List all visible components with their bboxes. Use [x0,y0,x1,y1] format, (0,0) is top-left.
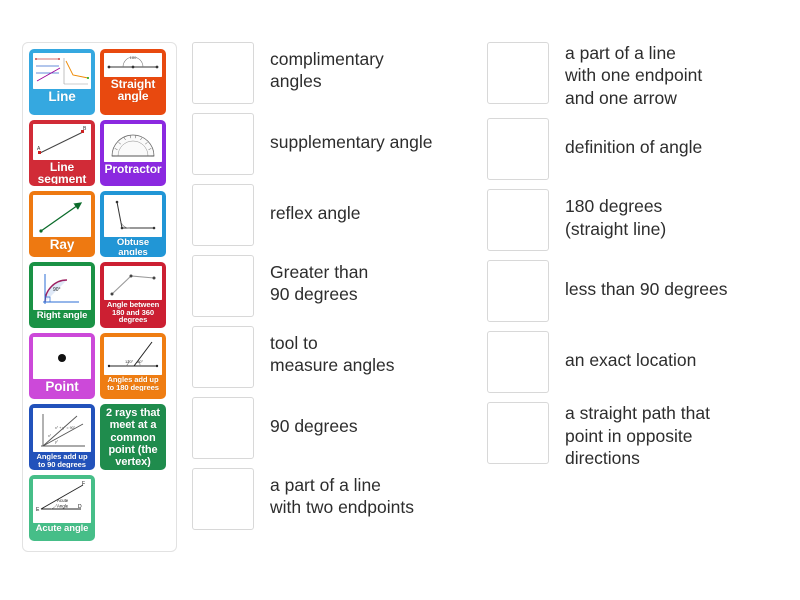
protractor-icon [104,124,162,162]
answer-row: a straight path that point in opposite d… [487,402,787,469]
answer-text: supplementary angle [270,113,432,153]
tile-label: Obtuse angles [103,238,163,255]
answer-text: less than 90 degrees [565,260,727,300]
tile-ray[interactable]: Ray [29,191,95,257]
svg-text:x° + y° = 90°: x° + y° = 90° [55,426,76,430]
right-angle-icon: 90° [33,266,91,310]
line-segment-icon: AB [33,124,91,160]
drop-target[interactable] [192,397,254,459]
answer-row: a part of a line with one endpoint and o… [487,42,787,109]
answer-text: a part of a line with two endpoints [270,468,414,519]
tile-label: Right angle [32,311,92,321]
tile-angles-add-up[interactable]: 120°60°Angles add up to 180 degrees [100,333,166,399]
tile-line[interactable]: Line [29,49,95,115]
drop-target[interactable] [487,260,549,322]
tile-label: Line [32,90,92,104]
answer-text: 90 degrees [270,397,358,437]
answer-row: supplementary angle [192,113,492,175]
answer-row: a part of a line with two endpoints [192,468,492,530]
answer-text: a part of a line with one endpoint and o… [565,42,702,109]
answer-text: 180 degrees (straight line) [565,189,666,240]
drop-target[interactable] [192,42,254,104]
drop-target[interactable] [487,118,549,180]
tile-point[interactable]: Point [29,333,95,399]
match-up-activity: Line180Straight angleABLine segmentProtr… [0,0,800,600]
svg-text:Angle: Angle [57,504,69,509]
ray-icon [33,195,91,237]
drop-target[interactable] [192,468,254,530]
drop-target[interactable] [192,184,254,246]
svg-text:90°: 90° [53,287,61,293]
acute-angle-icon: AcuteAngleEFD [33,479,91,523]
drop-target[interactable] [487,331,549,393]
line-icon [33,53,91,89]
svg-text:120°: 120° [125,359,134,364]
tile-angle-between[interactable]: Angle between 180 and 360 degrees [100,262,166,328]
answer-text: definition of angle [565,118,702,158]
answer-row: complimentary angles [192,42,492,104]
answer-row: tool to measure angles [192,326,492,388]
reflex-angle-icon [104,266,162,300]
tile-straight[interactable]: 180Straight angle [100,49,166,115]
answer-text: reflex angle [270,184,360,224]
svg-text:D: D [78,504,82,510]
drop-target[interactable] [192,326,254,388]
drop-target[interactable] [192,255,254,317]
svg-text:y°: y° [55,440,59,444]
drop-target[interactable] [487,189,549,251]
tile-label: Point [32,380,92,394]
answer-text: a straight path that point in opposite d… [565,402,710,469]
tile-line[interactable]: ABLine segment [29,120,95,186]
tile-bank-panel: Line180Straight angleABLine segmentProtr… [22,42,177,552]
tile-label: Acute angle [32,524,92,534]
answer-row: Greater than 90 degrees [192,255,492,317]
drop-target[interactable] [192,113,254,175]
tile-label: Straight angle [103,78,163,102]
tile-angles-add-up[interactable]: x° + y° = 90°x°y°Angles add up to 90 deg… [29,404,95,470]
svg-text:F: F [82,481,85,487]
tile-label: Ray [32,238,92,252]
tile-label: Angle between 180 and 360 degrees [103,301,163,324]
answer-row: 90 degrees [192,397,492,459]
point-icon [33,337,91,379]
supplementary-icon: 120°60° [104,337,162,375]
answer-column-right: a part of a line with one endpoint and o… [487,42,787,478]
answer-text: an exact location [565,331,696,371]
tile-label: Line segment [32,161,92,184]
straight-angle-icon: 180 [104,53,162,77]
complementary-icon: x° + y° = 90°x°y° [33,408,91,452]
svg-text:x°: x° [48,434,52,438]
answer-text: Greater than 90 degrees [270,255,368,306]
answer-text: complimentary angles [270,42,384,93]
tile-2-rays-that[interactable]: 2 rays that meet at a common point (the … [100,404,166,470]
tile-right-angle[interactable]: 90°Right angle [29,262,95,328]
answer-row: an exact location [487,331,787,393]
tile-label: Angles add up to 90 degrees [32,453,92,468]
svg-text:Acute: Acute [57,498,69,503]
tile-label: Protractor [103,163,163,175]
answer-row: definition of angle [487,118,787,180]
tile-grid: Line180Straight angleABLine segmentProtr… [29,49,171,541]
obtuse-angle-icon [104,195,162,237]
answer-row: reflex angle [192,184,492,246]
tile-obtuse[interactable]: Obtuse angles [100,191,166,257]
answer-row: 180 degrees (straight line) [487,189,787,251]
answer-text: tool to measure angles [270,326,395,377]
svg-text:180: 180 [130,55,137,60]
drop-target[interactable] [487,402,549,464]
tile-acute-angle[interactable]: AcuteAngleEFDAcute angle [29,475,95,541]
svg-text:60°: 60° [137,359,143,364]
tile-label: 2 rays that meet at a common point (the … [103,407,163,467]
drop-target[interactable] [487,42,549,104]
answer-column-middle: complimentary anglessupplementary angler… [192,42,492,539]
answer-row: less than 90 degrees [487,260,787,322]
tile-label: Angles add up to 180 degrees [103,376,163,391]
tile-protractor[interactable]: Protractor [100,120,166,186]
